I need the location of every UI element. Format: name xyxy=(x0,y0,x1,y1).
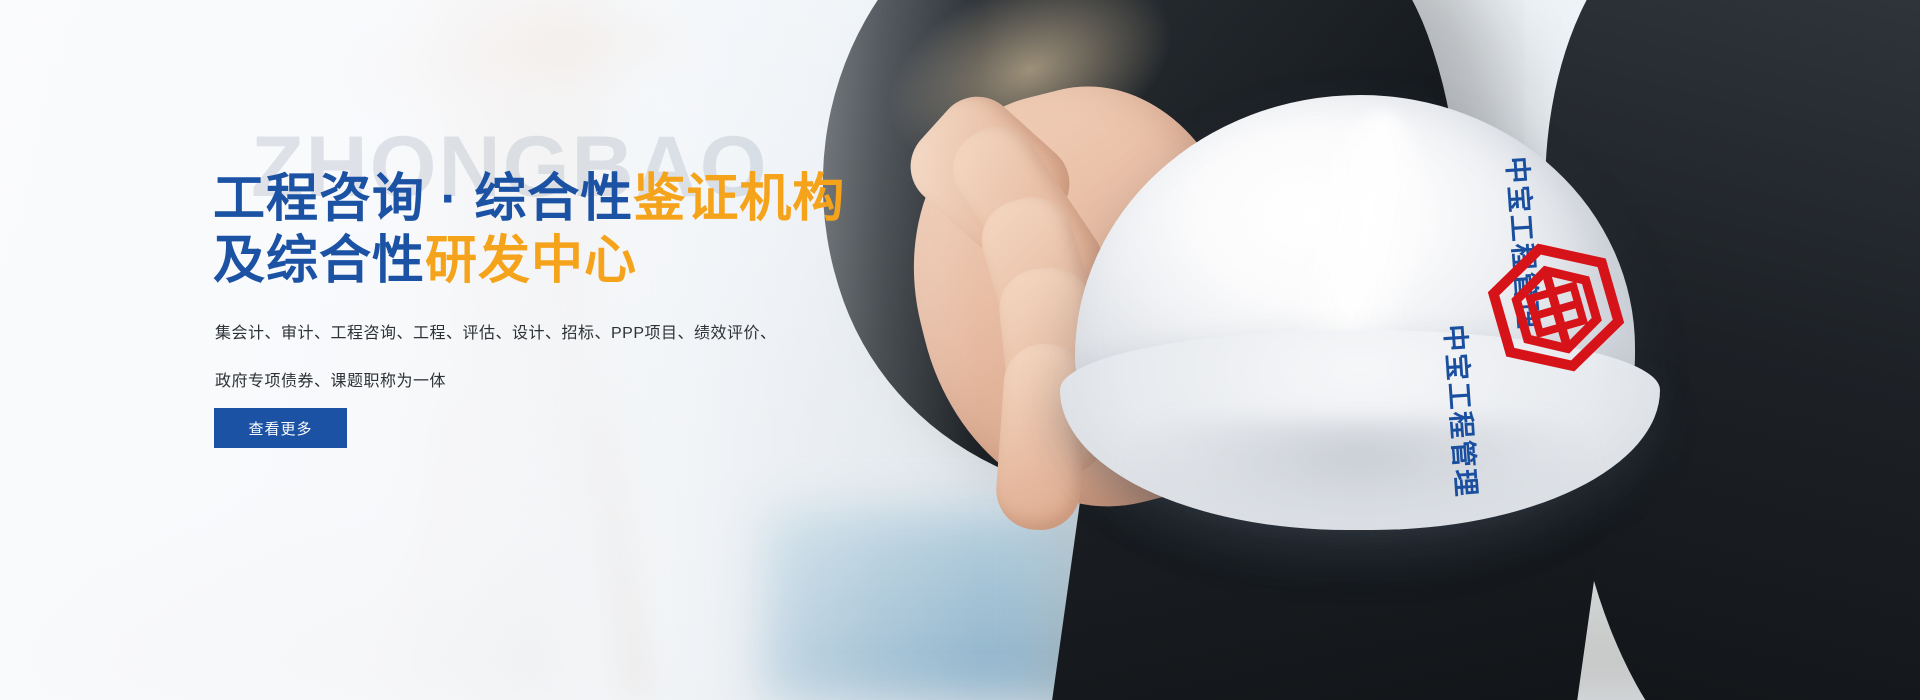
hero-subtitle: 集会计、审计、工程咨询、工程、评估、设计、招标、PPP项目、绩效评价、 政府专项… xyxy=(215,310,815,406)
hero-content: ZHONGBAO 工程咨询 · 综合性鉴证机构 及综合性研发中心 集会计、审计、… xyxy=(213,0,913,700)
hero-banner: 中宝工程管理 中宝工程管理 ZHONGBAO 工程咨询 · 综合性鉴证机构 及综… xyxy=(0,0,1920,700)
hero-headline: 工程咨询 · 综合性鉴证机构 及综合性研发中心 xyxy=(213,168,913,292)
view-more-button[interactable]: 查看更多 xyxy=(214,408,347,448)
headline-line-2: 及综合性研发中心 xyxy=(213,230,913,292)
headline-line-1: 工程咨询 · 综合性鉴证机构 xyxy=(213,168,913,230)
subtitle-line-2: 政府专项债券、课题职称为一体 xyxy=(215,358,815,406)
headline-line-1-orange: 鉴证机构 xyxy=(633,170,845,228)
headline-line-2-orange: 研发中心 xyxy=(425,232,637,290)
headline-line-1-blue: 工程咨询 · 综合性 xyxy=(213,170,633,228)
headline-line-2-blue: 及综合性 xyxy=(213,232,425,290)
subtitle-line-1: 集会计、审计、工程咨询、工程、评估、设计、招标、PPP项目、绩效评价、 xyxy=(215,310,815,358)
